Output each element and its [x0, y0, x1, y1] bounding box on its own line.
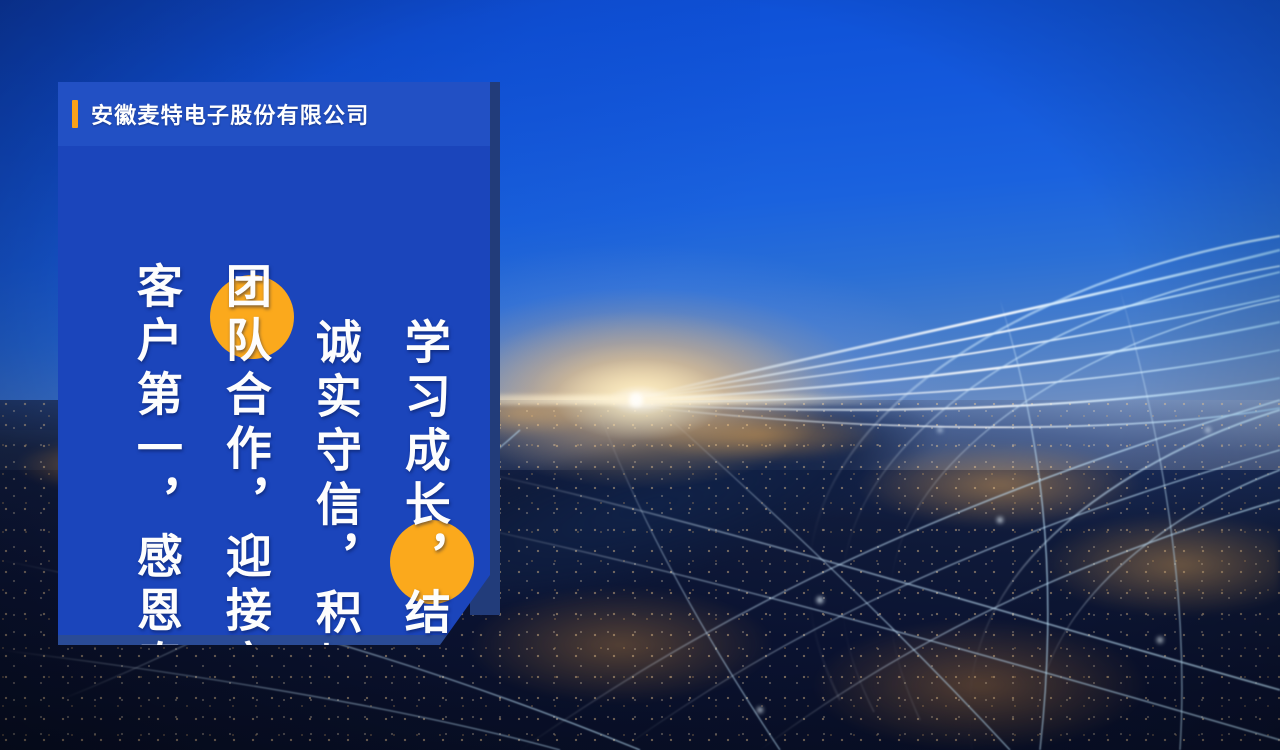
- card-header: 安徽麦特电子股份有限公司: [58, 82, 490, 146]
- poster-stage: 安徽麦特电子股份有限公司 客户第一，感恩奉献 团队合作，迎接变化 诚实守信，积极…: [0, 0, 1280, 750]
- header-row: 安徽麦特电子股份有限公司: [72, 98, 369, 130]
- slogan-columns: 客户第一，感恩奉献 团队合作，迎接变化 诚实守信，积极向上 学习成长，结果为王: [58, 146, 490, 645]
- page-title: 安徽麦特电子股份有限公司: [91, 98, 369, 130]
- culture-card: 安徽麦特电子股份有限公司 客户第一，感恩奉献 团队合作，迎接变化 诚实守信，积极…: [58, 82, 490, 645]
- accent-bar-icon: [72, 100, 78, 128]
